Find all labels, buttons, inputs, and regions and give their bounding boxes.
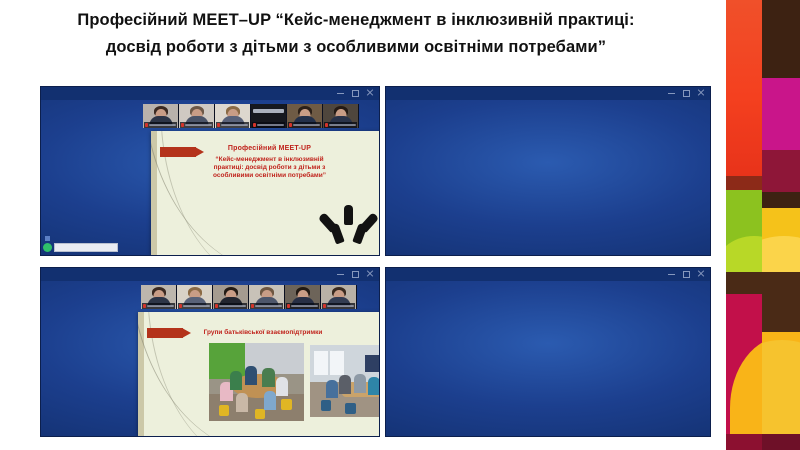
mic-muted-icon bbox=[143, 304, 146, 308]
deco-block-magenta bbox=[726, 294, 762, 434]
slide-title-line-3: практиці: досвід роботи з дітьми з bbox=[214, 164, 326, 171]
minimize-icon[interactable] bbox=[337, 89, 344, 96]
close-icon[interactable] bbox=[698, 89, 705, 96]
mic-muted-icon bbox=[323, 304, 326, 308]
screenshare-tooltip bbox=[54, 243, 118, 252]
participant-filmstrip[interactable] bbox=[143, 104, 359, 128]
participant-name-bar bbox=[142, 303, 175, 309]
participant-tile[interactable] bbox=[323, 104, 359, 128]
screenshare-active-icon bbox=[43, 243, 52, 252]
participant-name-bar bbox=[144, 122, 177, 128]
participant-tile[interactable] bbox=[141, 285, 177, 309]
deco-block-pink bbox=[762, 104, 800, 150]
slide-title-line-1: Професійний MEET-UP bbox=[169, 145, 370, 154]
close-icon[interactable] bbox=[367, 270, 374, 277]
shared-slide: Групи батьківської взаємопідтримки bbox=[138, 312, 379, 436]
deco-column-right bbox=[762, 0, 800, 450]
page-title-line-2: досвід роботи з дітьми з особливими осві… bbox=[0, 35, 712, 61]
deco-block-crimson bbox=[726, 434, 762, 450]
close-icon[interactable] bbox=[367, 89, 374, 96]
window-controls[interactable] bbox=[668, 89, 705, 96]
window-titlebar bbox=[386, 87, 710, 100]
minimize-icon[interactable] bbox=[337, 270, 344, 277]
participant-tile[interactable] bbox=[143, 104, 179, 128]
mic-muted-icon bbox=[215, 304, 218, 308]
participant-tile[interactable] bbox=[249, 285, 285, 309]
parents-group-photo-2 bbox=[310, 345, 379, 417]
maximize-icon[interactable] bbox=[352, 89, 359, 96]
deco-block-brown-pink bbox=[762, 58, 800, 104]
mic-muted-icon bbox=[251, 304, 254, 308]
participant-display-name bbox=[253, 109, 284, 113]
maximize-icon[interactable] bbox=[352, 270, 359, 277]
mic-muted-icon bbox=[181, 123, 184, 127]
deco-block-red bbox=[726, 0, 762, 176]
mic-muted-icon bbox=[287, 304, 290, 308]
window-controls[interactable] bbox=[668, 270, 705, 277]
deco-block-brown bbox=[726, 272, 762, 294]
participant-name-bar bbox=[216, 122, 249, 128]
participant-filmstrip[interactable] bbox=[141, 285, 357, 309]
participant-tile[interactable] bbox=[321, 285, 357, 309]
window-background bbox=[386, 87, 710, 255]
shared-slide: Професійний MEET-UP “Кейс-менеджмент в і… bbox=[151, 131, 379, 255]
participant-tile[interactable] bbox=[287, 104, 323, 128]
slide-title: Групи батьківської взаємопідтримки bbox=[138, 329, 379, 337]
video-call-window-top-left[interactable]: Професійний MEET-UP “Кейс-менеджмент в і… bbox=[41, 87, 379, 255]
participant-tile-active-speaker[interactable] bbox=[177, 285, 213, 309]
page-title-line-1: Професійний MEET–UP “Кейс-менеджмент в і… bbox=[0, 8, 712, 34]
deco-block-brown-lower bbox=[762, 294, 800, 332]
participant-name-bar bbox=[322, 303, 355, 309]
window-background bbox=[386, 268, 710, 436]
participant-name-bar bbox=[178, 303, 211, 309]
participant-name-bar bbox=[180, 122, 213, 128]
maximize-icon[interactable] bbox=[683, 270, 690, 277]
window-controls[interactable] bbox=[337, 89, 374, 96]
deco-block-brown-mid bbox=[762, 272, 800, 294]
participant-name-bar bbox=[250, 303, 283, 309]
mic-muted-icon bbox=[253, 123, 256, 127]
video-call-window-bottom-right[interactable] bbox=[386, 268, 710, 436]
participant-tile-camera-off[interactable] bbox=[251, 104, 287, 128]
deco-block-green bbox=[726, 190, 762, 272]
minimize-icon[interactable] bbox=[668, 270, 675, 277]
mic-muted-icon bbox=[325, 123, 328, 127]
participant-tile[interactable] bbox=[179, 104, 215, 128]
slide-page: Професійний MEET–UP “Кейс-менеджмент в і… bbox=[0, 0, 800, 450]
mic-muted-icon bbox=[179, 304, 182, 308]
raised-hands-icon bbox=[326, 205, 372, 247]
slide-title-block: Професійний MEET-UP “Кейс-менеджмент в і… bbox=[151, 145, 379, 180]
page-title: Професійний MEET–UP “Кейс-менеджмент в і… bbox=[0, 8, 712, 60]
minimize-icon[interactable] bbox=[668, 89, 675, 96]
participant-name-bar bbox=[288, 122, 321, 128]
participant-tile[interactable] bbox=[213, 285, 249, 309]
window-restore-handle[interactable] bbox=[45, 236, 50, 241]
deco-block-yellow bbox=[762, 208, 800, 272]
deco-column-left bbox=[726, 0, 762, 450]
window-controls[interactable] bbox=[337, 270, 374, 277]
deco-block-brown-thin bbox=[762, 192, 800, 208]
deco-block-dark-red bbox=[726, 176, 762, 190]
participant-name-bar bbox=[252, 122, 285, 128]
close-icon[interactable] bbox=[698, 270, 705, 277]
window-titlebar bbox=[41, 268, 379, 281]
window-titlebar bbox=[41, 87, 379, 100]
mic-muted-icon bbox=[145, 123, 148, 127]
deco-block-maroon bbox=[762, 150, 800, 192]
video-call-window-top-right[interactable]: Досвід практичної діяльності bbox=[386, 87, 710, 255]
slide-title-line-2: “Кейс-менеджмент в інклюзивній bbox=[215, 156, 323, 163]
participant-tile[interactable] bbox=[285, 285, 321, 309]
maximize-icon[interactable] bbox=[683, 89, 690, 96]
deco-block-amber bbox=[762, 332, 800, 434]
parents-group-photo-1 bbox=[209, 343, 304, 421]
window-titlebar bbox=[386, 268, 710, 281]
deco-block-plum bbox=[762, 434, 800, 450]
participant-name-bar bbox=[324, 122, 357, 128]
screenshare-indicator[interactable] bbox=[43, 243, 118, 252]
slide-title-line-4: особливими освітніми потребами” bbox=[213, 172, 326, 179]
video-call-window-bottom-left[interactable]: Групи батьківської взаємопідтримки bbox=[41, 268, 379, 436]
decorative-colour-strip bbox=[718, 0, 800, 450]
mic-muted-icon bbox=[217, 123, 220, 127]
mic-muted-icon bbox=[289, 123, 292, 127]
participant-name-bar bbox=[214, 303, 247, 309]
participant-name-bar bbox=[286, 303, 319, 309]
participant-tile-active-speaker[interactable] bbox=[215, 104, 251, 128]
deco-block-brown-top bbox=[762, 0, 800, 58]
